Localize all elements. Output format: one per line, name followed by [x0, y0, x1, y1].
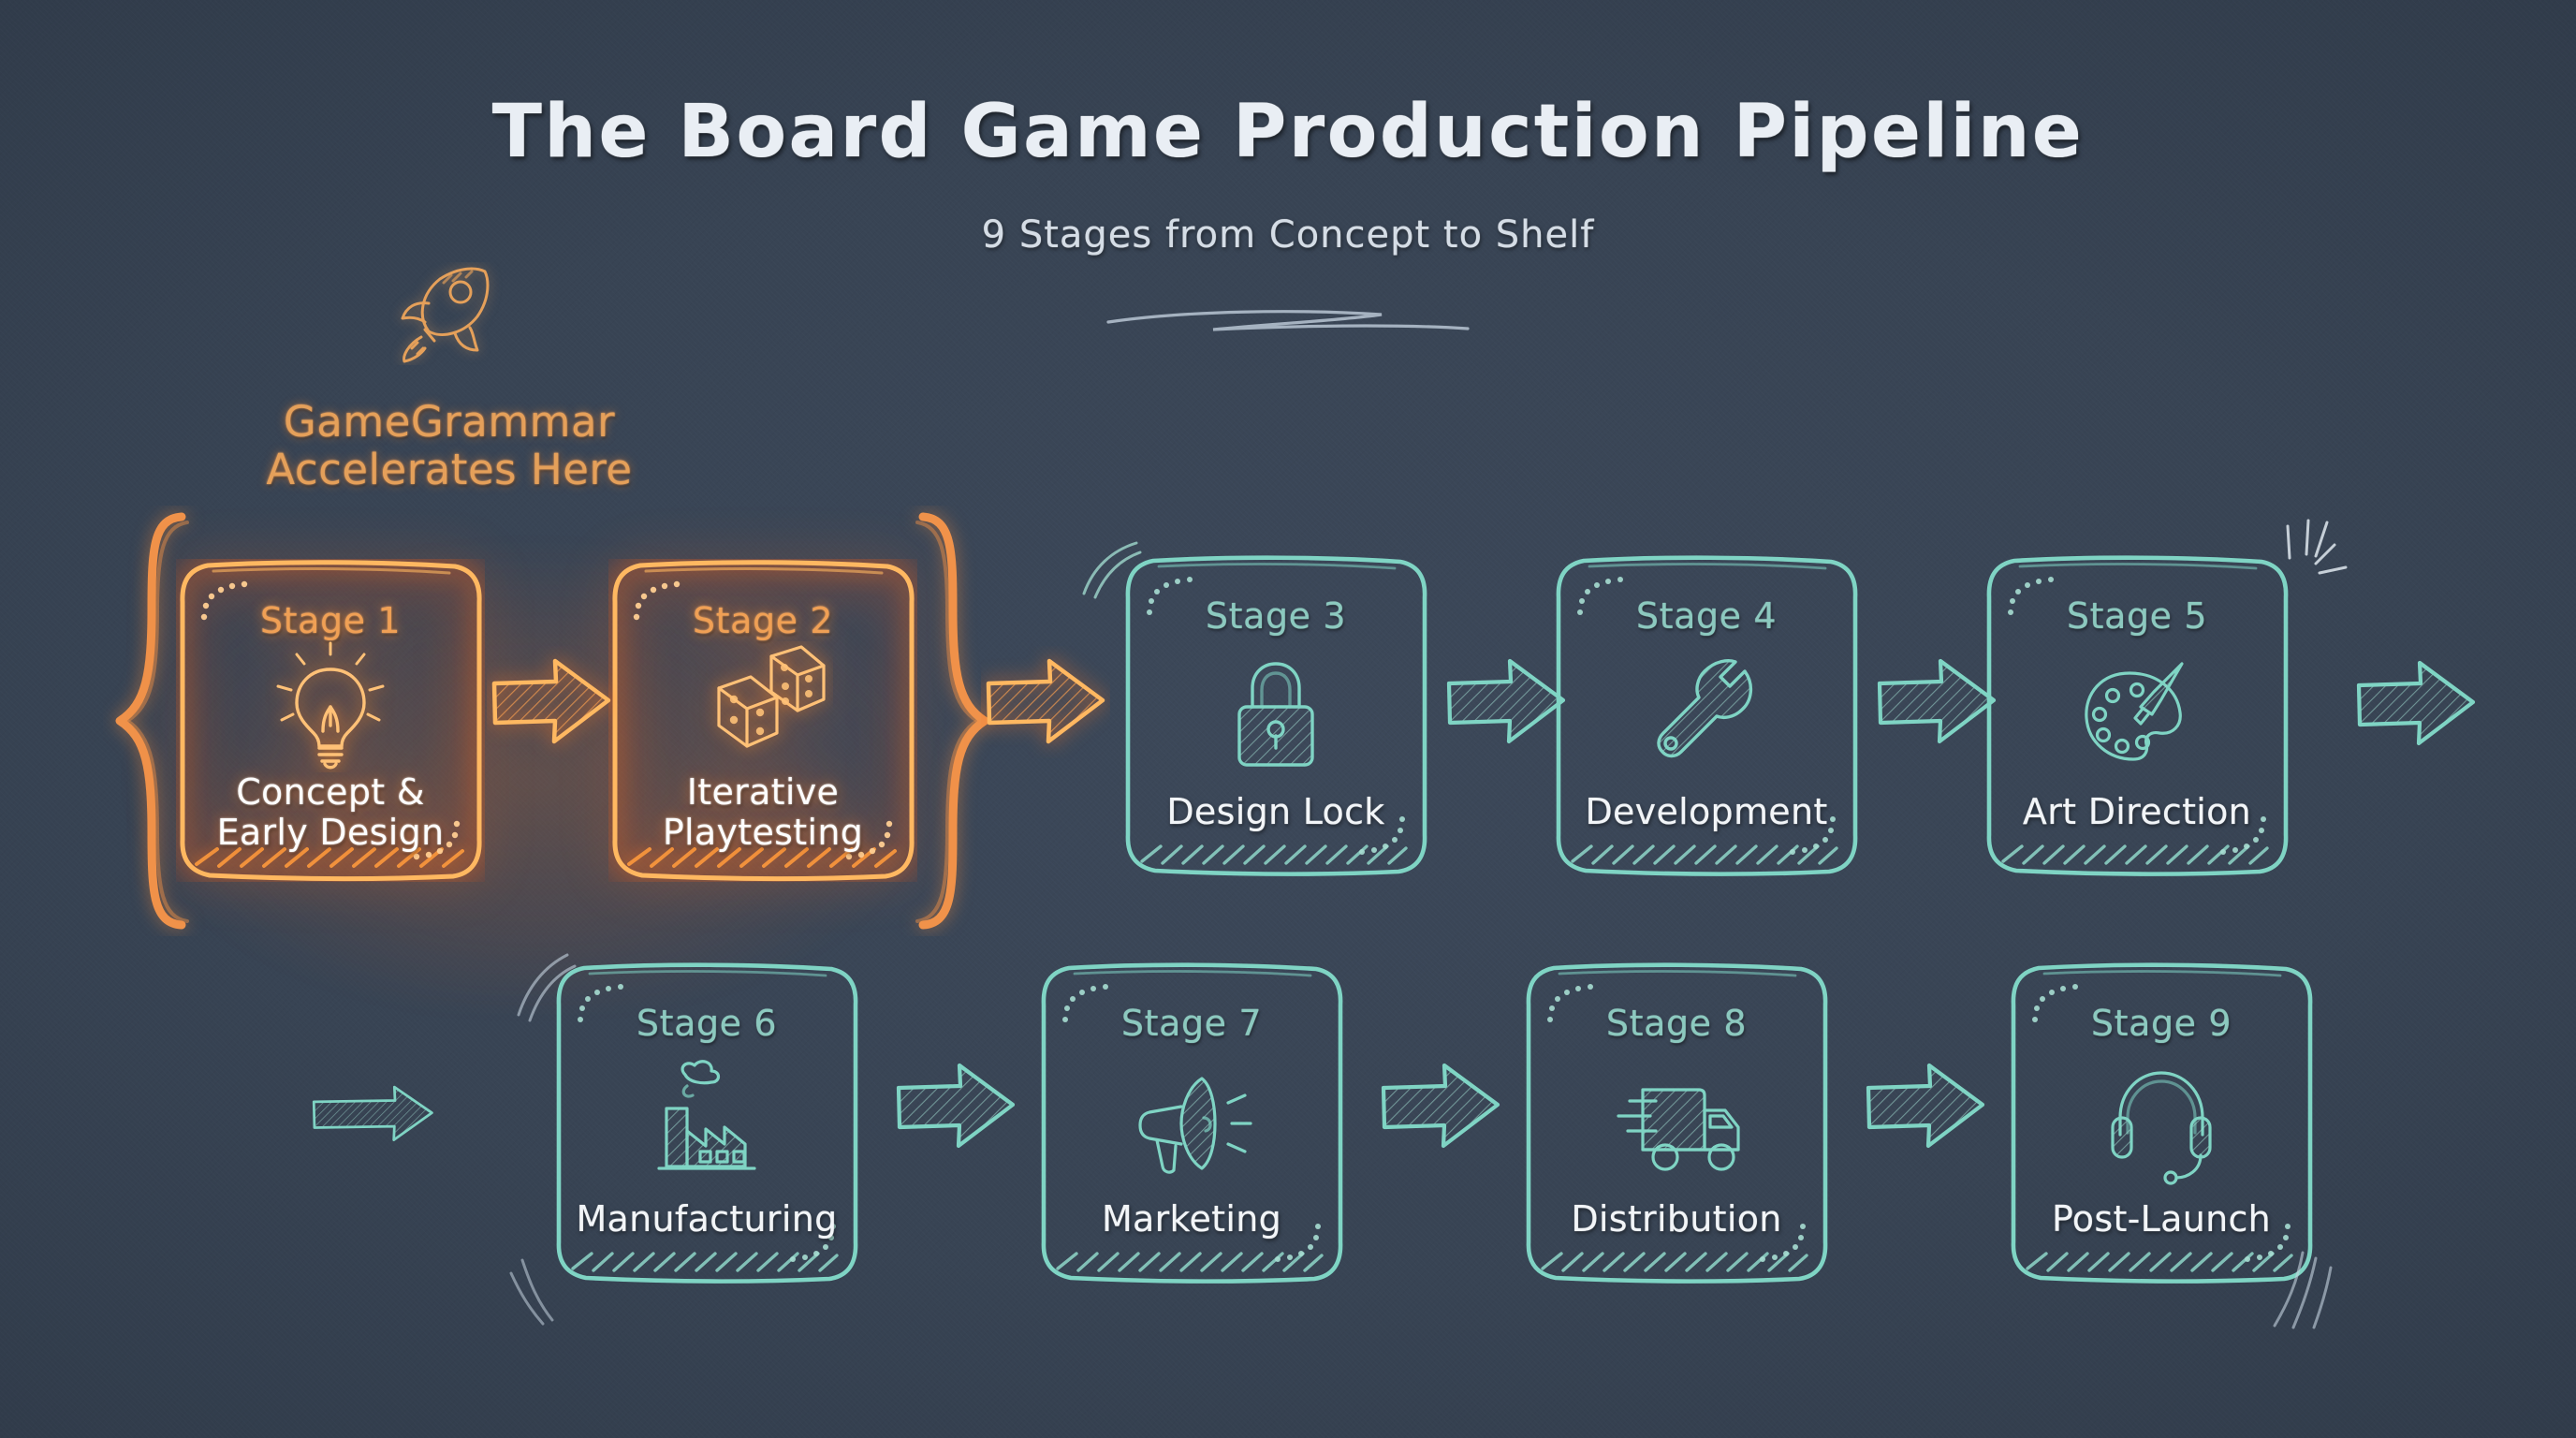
stage-label: Stage 4 — [1636, 595, 1777, 637]
stage-card-9[interactable]: Stage 9 Post-Launch — [2007, 961, 2316, 1284]
arrow-row1-exit — [2351, 648, 2481, 760]
palette-brush-icon — [1983, 637, 2291, 792]
stage-card-3[interactable]: Stage 3 Design Lock — [1121, 554, 1430, 877]
megaphone-icon — [1037, 1044, 1346, 1199]
arrow-stage7-to-stage8 — [1376, 1050, 1505, 1163]
stage-name: Design Lock — [1166, 792, 1384, 832]
stage-label: Stage 2 — [693, 600, 833, 641]
promo-line-1: GameGrammar — [234, 398, 665, 446]
delivery-truck-icon — [1522, 1044, 1831, 1199]
promo-line-2: Accelerates Here — [234, 446, 665, 493]
page-title: The Board Game Production Pipeline — [0, 90, 2576, 174]
arrow-stage6-to-stage7 — [891, 1050, 1020, 1163]
stage-label: Stage 5 — [2067, 595, 2207, 637]
factory-icon — [552, 1044, 861, 1199]
stage-label: Stage 8 — [1606, 1003, 1747, 1044]
page-subtitle: 9 Stages from Concept to Shelf — [0, 213, 2576, 257]
stage-card-2[interactable]: Stage 2 Iterative Playtest — [608, 559, 917, 882]
arrow-row2-entry — [309, 1058, 438, 1170]
headset-icon — [2007, 1044, 2316, 1199]
stage-card-4[interactable]: Stage 4 Development — [1552, 554, 1861, 877]
stage-label: Stage 1 — [260, 600, 401, 641]
arrow-stage8-to-stage9 — [1861, 1050, 1990, 1163]
stage-name: Iterative Playtesting — [663, 772, 863, 852]
stage-name: Manufacturing — [576, 1199, 837, 1240]
subtitle-underline-icon — [1101, 298, 1475, 346]
stage-name: Distribution — [1571, 1199, 1781, 1240]
stage-card-7[interactable]: Stage 7 Marketing — [1037, 961, 1346, 1284]
stage-name: Concept & Early Design — [217, 772, 445, 852]
promo-callout: GameGrammar Accelerates Here — [234, 398, 665, 494]
stage-label: Stage 3 — [1206, 595, 1346, 637]
stage-name: Development — [1585, 792, 1827, 832]
stage-name: Marketing — [1102, 1199, 1281, 1240]
arrow-stage1-to-stage2 — [487, 646, 616, 758]
stage-card-6[interactable]: Stage 6 Manufacturing — [552, 961, 861, 1284]
stage-card-1[interactable]: Stage 1 Concept & Early Design — [176, 559, 485, 882]
stage-name: Art Direction — [2023, 792, 2251, 832]
arrow-stage2-to-stage3 — [981, 646, 1110, 758]
stage-label: Stage 9 — [2091, 1003, 2232, 1044]
dice-icon — [608, 641, 917, 772]
stage-label: Stage 7 — [1121, 1003, 1262, 1044]
stage-card-8[interactable]: Stage 8 Distribution — [1522, 961, 1831, 1284]
padlock-icon — [1121, 637, 1430, 792]
lightbulb-icon — [176, 641, 485, 772]
rocket-icon — [374, 262, 505, 365]
wrench-icon — [1552, 637, 1861, 792]
infographic-canvas: The Board Game Production Pipeline 9 Sta… — [0, 0, 2576, 1438]
stage-label: Stage 6 — [637, 1003, 777, 1044]
stage-name: Post-Launch — [2052, 1199, 2271, 1240]
stage-card-5[interactable]: Stage 5 Art Direction — [1983, 554, 2291, 877]
